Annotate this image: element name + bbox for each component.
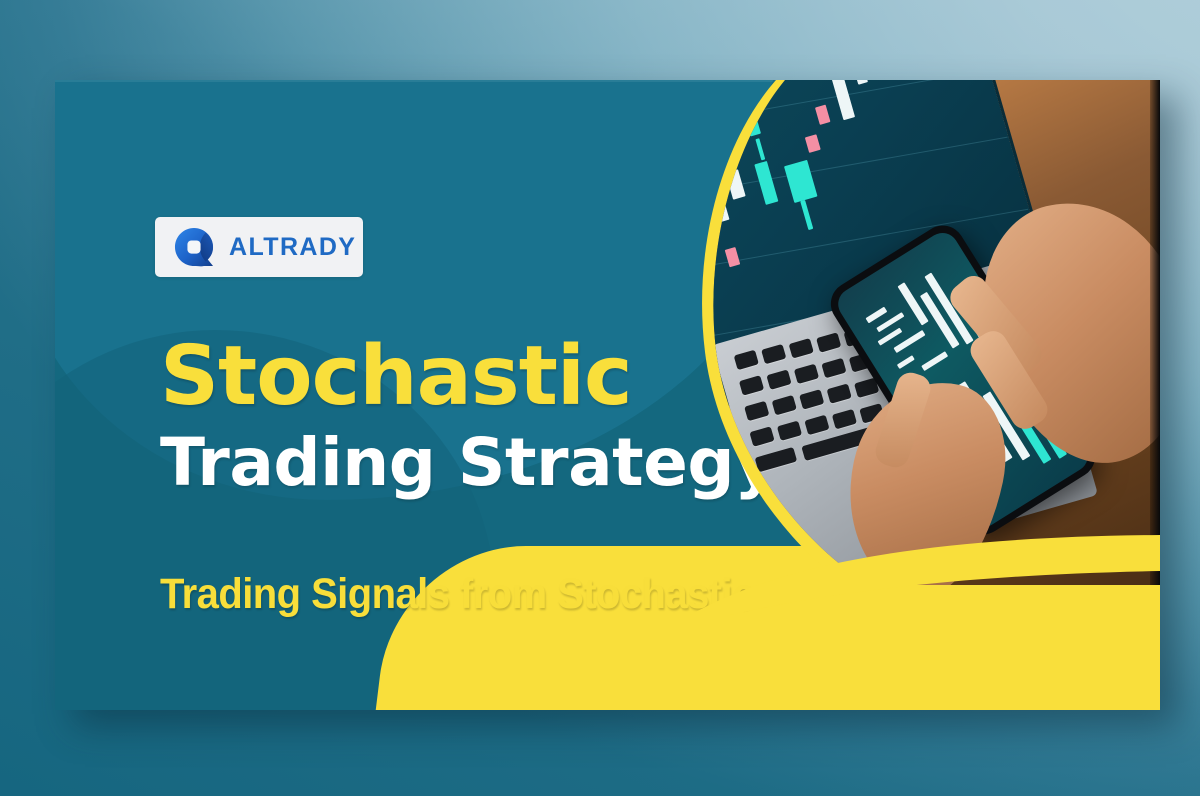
page-background: ALTRADY Stochastic Trading Strategy Trad… xyxy=(0,0,1200,796)
photo-panel xyxy=(690,80,1160,585)
photo-clip xyxy=(690,80,1160,585)
altrady-droplet-icon xyxy=(173,226,215,268)
trading-photo xyxy=(690,80,1160,585)
brand-name-label: ALTRADY xyxy=(229,233,356,262)
headline-block: Stochastic Trading Strategy xyxy=(160,338,777,496)
brand-logo-badge[interactable]: ALTRADY xyxy=(155,217,363,277)
bottom-yellow-dome-fill xyxy=(455,636,1160,710)
headline-line-1: Stochastic xyxy=(160,338,777,416)
photo-right-edge xyxy=(1150,80,1160,585)
banner-card: ALTRADY Stochastic Trading Strategy Trad… xyxy=(55,80,1160,710)
headline-line-2: Trading Strategy xyxy=(160,430,777,496)
tagline: Trading Signals from Stochastic xyxy=(160,570,754,619)
